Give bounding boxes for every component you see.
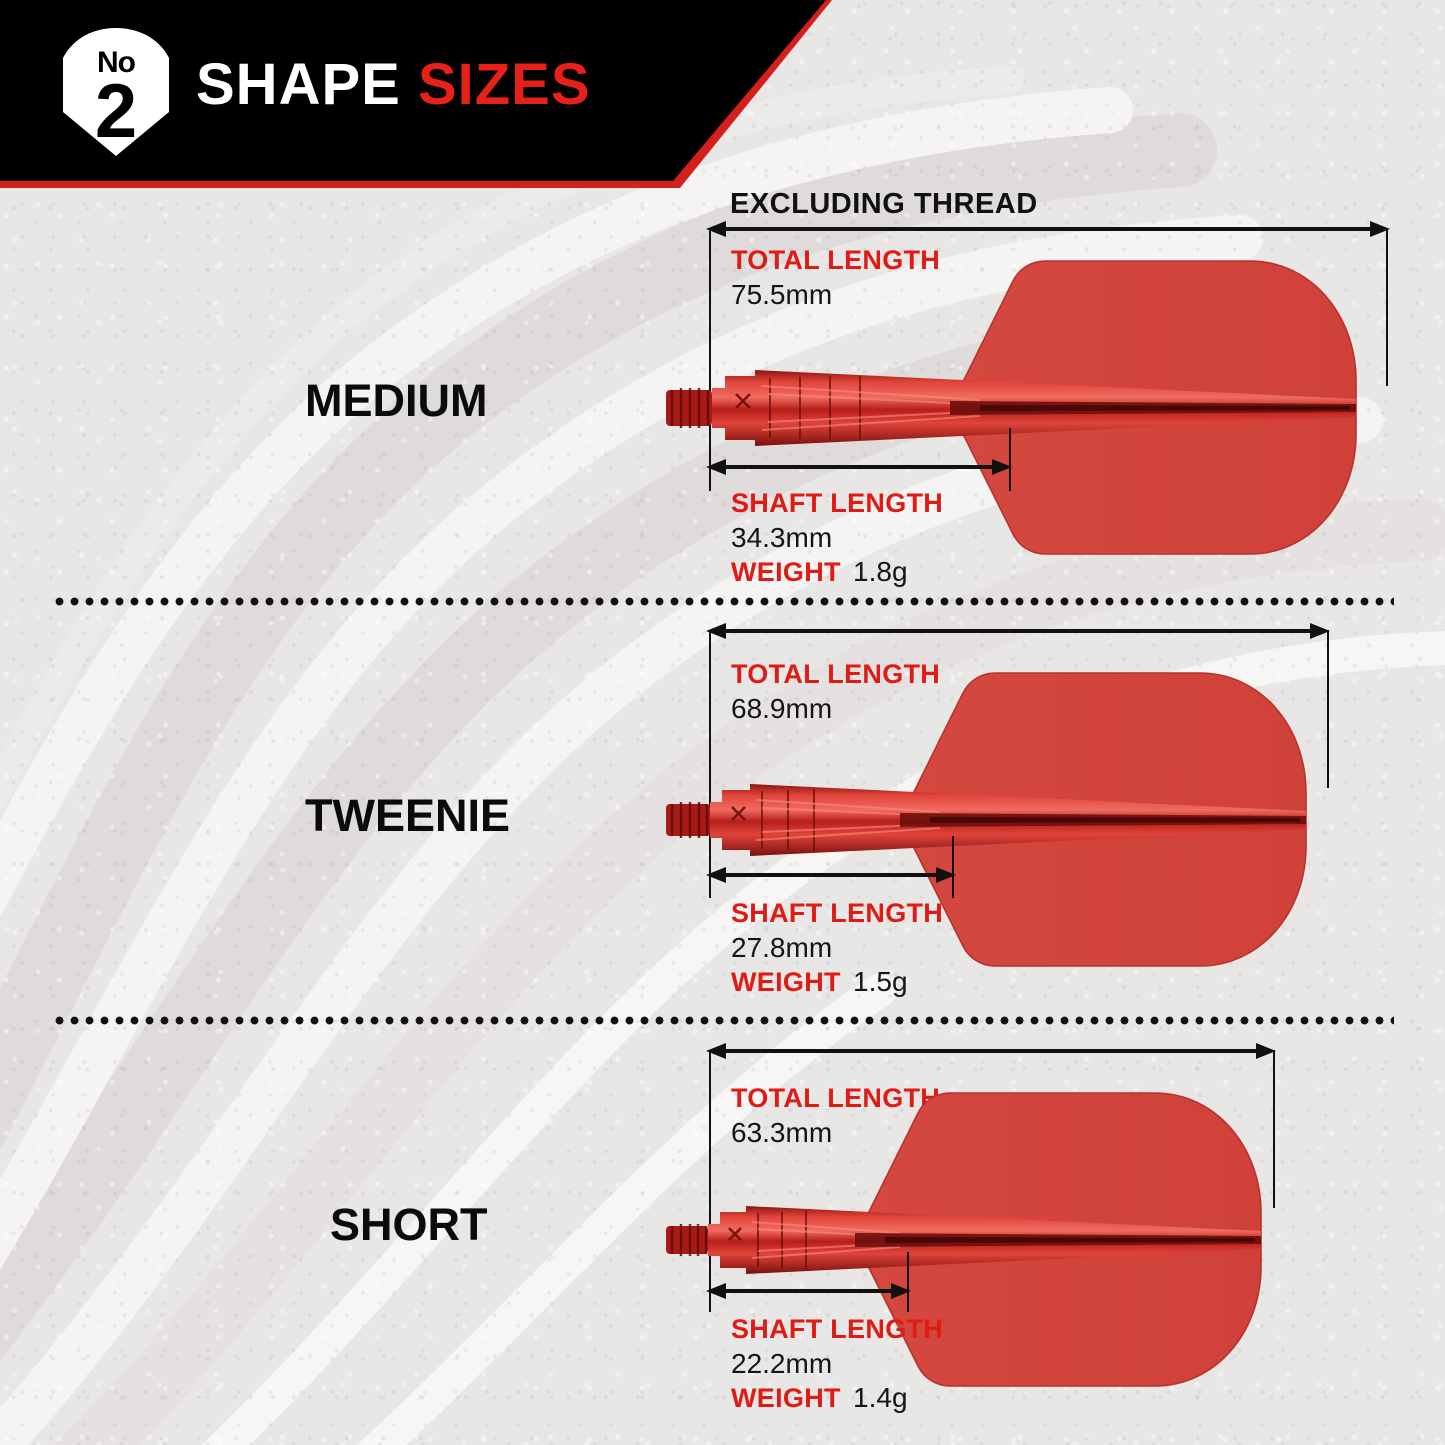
shaft-length-label-medium: SHAFT LENGTH: [731, 490, 943, 517]
weight-label-short: WEIGHT: [731, 1383, 841, 1413]
shaft-length-value-short: 22.2mm: [731, 1350, 832, 1378]
section-divider-1: [52, 597, 1394, 606]
size-label-medium: MEDIUM: [305, 378, 487, 423]
page-title-accent: SIZES: [418, 52, 591, 117]
shaft-length-label-tweenie: SHAFT LENGTH: [731, 900, 943, 927]
shaft-length-value-medium: 34.3mm: [731, 524, 832, 552]
badge-number: 2: [57, 74, 175, 150]
shaft-length-dimension-arrow-medium: [706, 458, 1012, 476]
page-title: SHAPE SIZES: [196, 56, 591, 114]
infographic-canvas: No 2 SHAPE SIZES EXCLUDING THREAD TOTAL …: [0, 0, 1445, 1445]
shaft-length-label-short: SHAFT LENGTH: [731, 1316, 943, 1343]
size-label-tweenie: TWEENIE: [305, 793, 510, 838]
shaft-length-value-tweenie: 27.8mm: [731, 934, 832, 962]
shaft-length-dimension-arrow-short: [706, 1282, 911, 1300]
weight-row-tweenie: WEIGHT 1.5g: [731, 968, 908, 996]
weight-value-medium: 1.8g: [853, 556, 908, 587]
weight-value-short: 1.4g: [853, 1382, 908, 1413]
total-length-dimension-arrow-tweenie: [706, 622, 1330, 640]
weight-label-medium: WEIGHT: [731, 557, 841, 587]
shaft-length-dimension-arrow-tweenie: [706, 866, 956, 884]
page-title-primary: SHAPE: [196, 52, 401, 117]
excluding-thread-note: EXCLUDING THREAD: [730, 190, 1038, 219]
total-length-dimension-arrow-short: [706, 1042, 1276, 1060]
size-label-short: SHORT: [330, 1202, 488, 1247]
section-divider-2: [52, 1016, 1394, 1025]
weight-value-tweenie: 1.5g: [853, 966, 908, 997]
dart-flight-icon: No 2: [57, 26, 175, 158]
weight-row-medium: WEIGHT 1.8g: [731, 558, 908, 586]
weight-label-tweenie: WEIGHT: [731, 967, 841, 997]
weight-row-short: WEIGHT 1.4g: [731, 1384, 908, 1412]
